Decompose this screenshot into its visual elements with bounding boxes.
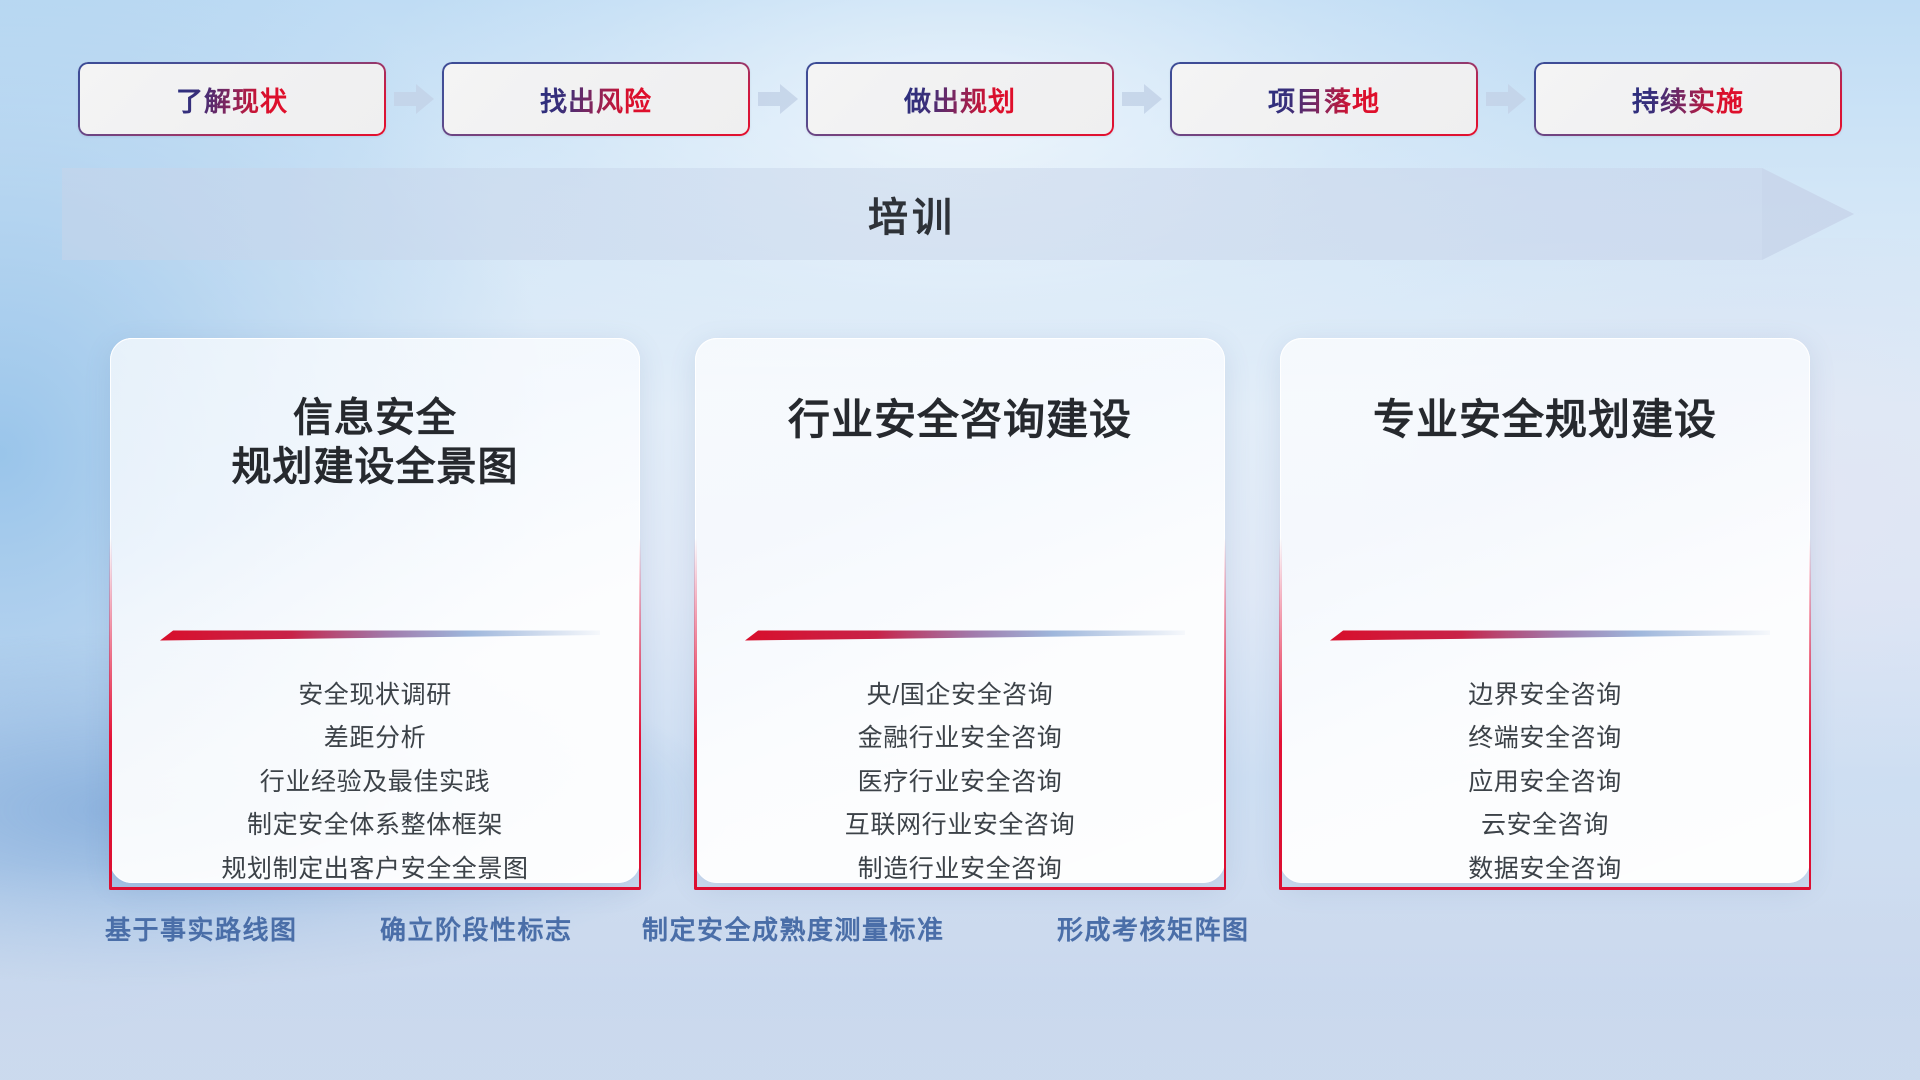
list-item: 制定安全体系整体框架 xyxy=(247,812,503,840)
arrow-right-icon xyxy=(1114,62,1170,136)
card-left-accent xyxy=(694,538,697,889)
list-item: 边界安全咨询 xyxy=(1468,682,1622,710)
list-item: 互联网行业安全咨询 xyxy=(845,812,1075,840)
service-card-3[interactable]: 专业安全规划建设边界安全咨询终端安全咨询应用安全咨询云安全咨询数据安全咨询 xyxy=(1280,338,1810,883)
list-item: 金融行业安全咨询 xyxy=(858,725,1063,753)
step-1-box[interactable]: 了解现状 xyxy=(78,62,386,136)
card-left-accent xyxy=(1279,538,1282,889)
card-bottom-accent xyxy=(694,887,1226,890)
footnote-label-1: 基于事实路线图 xyxy=(105,910,298,947)
list-item: 行业经验及最佳实践 xyxy=(260,769,490,797)
list-item: 终端安全咨询 xyxy=(1468,725,1622,753)
arrow-right-icon xyxy=(750,62,806,136)
process-steps-row: 了解现状找出风险做出规划项目落地持续实施 xyxy=(0,62,1920,136)
list-item: 医疗行业安全咨询 xyxy=(858,769,1063,797)
step-5-box[interactable]: 持续实施 xyxy=(1534,62,1842,136)
list-item: 制造行业安全咨询 xyxy=(858,856,1063,884)
service-card-1[interactable]: 信息安全 规划建设全景图安全现状调研差距分析行业经验及最佳实践制定安全体系整体框… xyxy=(110,338,640,883)
card-3-title: 专业安全规划建设 xyxy=(1306,394,1784,445)
list-item: 安全现状调研 xyxy=(298,682,452,710)
card-2-title: 行业安全咨询建设 xyxy=(721,394,1199,445)
service-card-2[interactable]: 行业安全咨询建设央/国企安全咨询金融行业安全咨询医疗行业安全咨询互联网行业安全咨… xyxy=(695,338,1225,883)
step-4-label: 项目落地 xyxy=(1268,80,1380,119)
step-1-label: 了解现状 xyxy=(176,80,288,119)
card-bottom-accent xyxy=(1279,887,1811,890)
card-2-divider xyxy=(721,610,1199,652)
list-item: 央/国企安全咨询 xyxy=(867,682,1054,710)
step-3-box[interactable]: 做出规划 xyxy=(806,62,1114,136)
list-item: 规划制定出客户安全全景图 xyxy=(221,856,528,884)
card-left-accent xyxy=(109,538,112,889)
footnote-label-4: 形成考核矩阵图 xyxy=(1057,910,1250,947)
list-item: 应用安全咨询 xyxy=(1468,769,1622,797)
step-5-label: 持续实施 xyxy=(1632,80,1744,119)
cards-row: 信息安全 规划建设全景图安全现状调研差距分析行业经验及最佳实践制定安全体系整体框… xyxy=(0,338,1920,883)
step-2-box[interactable]: 找出风险 xyxy=(442,62,750,136)
card-right-accent xyxy=(639,538,642,889)
training-banner: 培训 xyxy=(62,168,1854,260)
card-bottom-accent xyxy=(109,887,641,890)
step-3-label: 做出规划 xyxy=(904,80,1016,119)
list-item: 数据安全咨询 xyxy=(1468,856,1622,884)
footnote-label-3: 制定安全成熟度测量标准 xyxy=(642,910,945,947)
card-1-list: 安全现状调研差距分析行业经验及最佳实践制定安全体系整体框架规划制定出客户安全全景… xyxy=(136,682,614,884)
step-2-label: 找出风险 xyxy=(540,80,652,119)
list-item: 云安全咨询 xyxy=(1481,812,1609,840)
arrow-right-icon xyxy=(386,62,442,136)
card-2-list: 央/国企安全咨询金融行业安全咨询医疗行业安全咨询互联网行业安全咨询制造行业安全咨… xyxy=(721,682,1199,884)
card-right-accent xyxy=(1809,538,1812,889)
card-3-list: 边界安全咨询终端安全咨询应用安全咨询云安全咨询数据安全咨询 xyxy=(1306,682,1784,884)
footnote-label-2: 确立阶段性标志 xyxy=(380,910,573,947)
footnote-row: 基于事实路线图确立阶段性标志制定安全成熟度测量标准形成考核矩阵图 xyxy=(0,910,1920,970)
step-4-box[interactable]: 项目落地 xyxy=(1170,62,1478,136)
arrow-right-icon xyxy=(1478,62,1534,136)
banner-label: 培训 xyxy=(62,168,1762,260)
card-1-divider xyxy=(136,610,614,652)
card-1-title: 信息安全 规划建设全景图 xyxy=(136,394,614,492)
card-3-divider xyxy=(1306,610,1784,652)
list-item: 差距分析 xyxy=(324,725,426,753)
background-bottom-shade xyxy=(0,864,1920,1080)
card-right-accent xyxy=(1224,538,1227,889)
